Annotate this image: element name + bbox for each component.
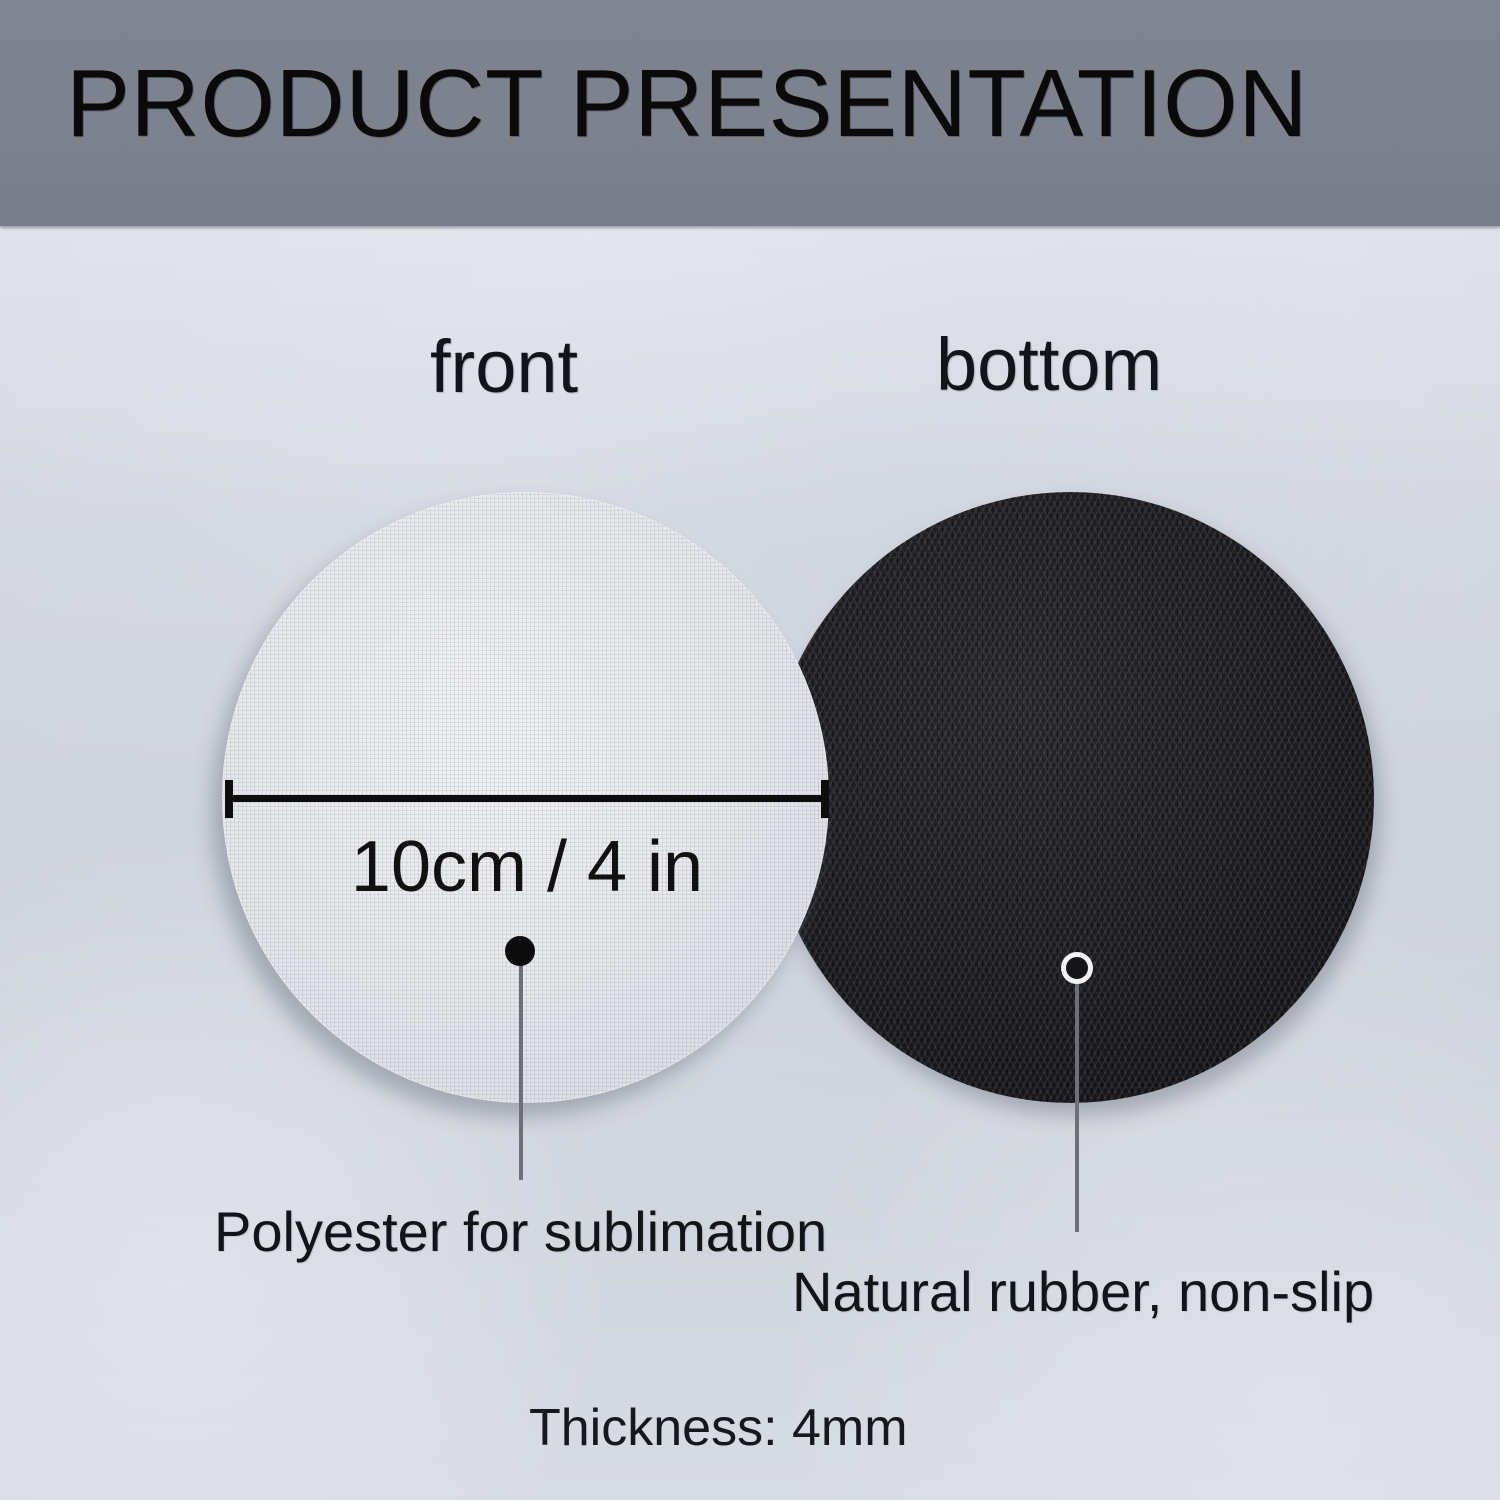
header-bar: PRODUCT PRESENTATION (0, 0, 1500, 226)
callout-label-polyester: Polyester for sublimation (214, 1200, 827, 1264)
view-label-bottom: bottom (936, 325, 1162, 405)
dimension-end-cap-right (821, 780, 829, 818)
coaster-bottom-face (767, 492, 1374, 1103)
diameter-value-label: 10cm / 4 in (225, 826, 829, 908)
callout-ring-dot-icon-bottom (1061, 952, 1093, 984)
callout-dot-icon-front (505, 936, 535, 966)
page-title: PRODUCT PRESENTATION (66, 52, 1446, 156)
callout-leader-line-front (519, 958, 523, 1180)
view-label-front: front (430, 327, 578, 407)
dimension-rule (225, 795, 829, 802)
diameter-dimension-line (225, 780, 829, 818)
product-presentation-poster: PRODUCT PRESENTATION front bottom 10cm /… (0, 0, 1500, 1500)
callout-label-rubber: Natural rubber, non-slip (792, 1260, 1374, 1324)
thickness-spec-label: Thickness: 4mm (529, 1398, 908, 1458)
callout-leader-line-bottom (1075, 978, 1079, 1232)
